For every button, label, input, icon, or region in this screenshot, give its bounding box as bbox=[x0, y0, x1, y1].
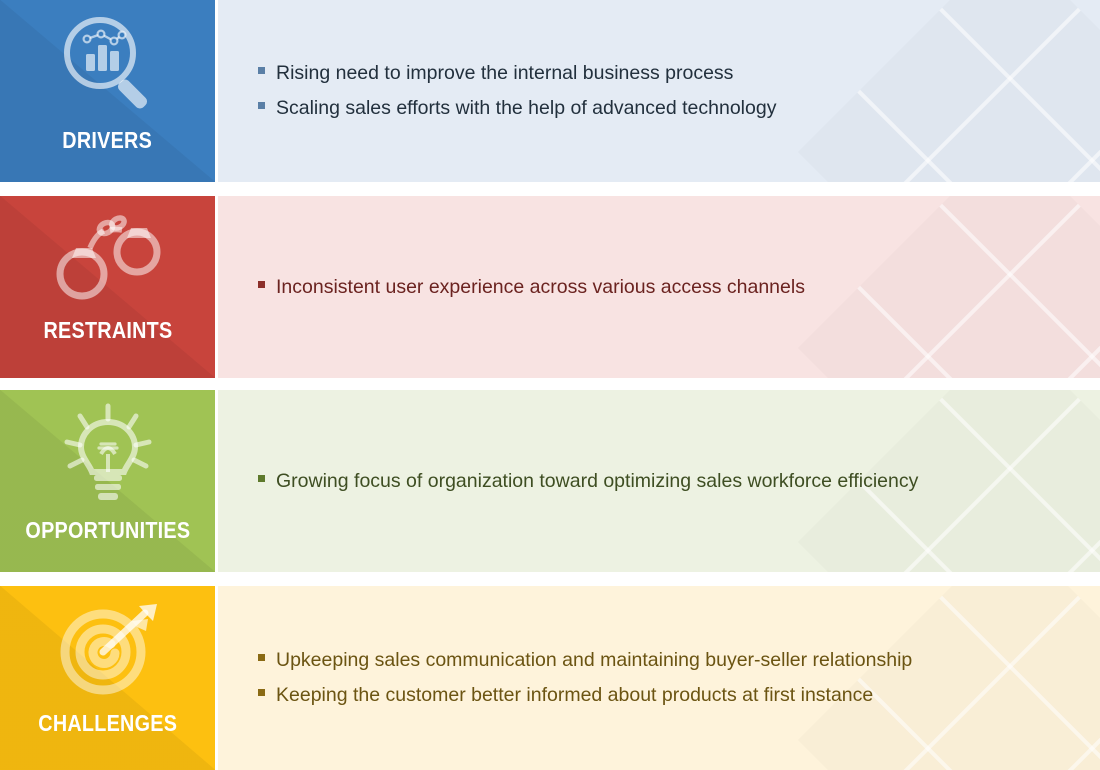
bullet-text: Inconsistent user experience across vari… bbox=[276, 270, 805, 305]
list-item: Keeping the customer better informed abo… bbox=[258, 678, 1100, 713]
bullet-text: Keeping the customer better informed abo… bbox=[276, 678, 873, 713]
bullet-list-challenges: Upkeeping sales communication and mainta… bbox=[218, 643, 1100, 712]
category-label-opportunities: OPPORTUNITIES bbox=[25, 519, 190, 542]
list-item: Upkeeping sales communication and mainta… bbox=[258, 643, 1100, 678]
magnifier-bar-chart-icon bbox=[0, 0, 215, 129]
diagram-row-restraints: RESTRAINTS Inconsistent user experience … bbox=[0, 196, 1100, 378]
list-item: Growing focus of organization toward opt… bbox=[258, 464, 1100, 499]
list-item: Rising need to improve the internal busi… bbox=[258, 56, 1100, 91]
bullet-marker-icon bbox=[258, 281, 265, 288]
target-arrow-icon bbox=[0, 586, 215, 712]
category-tile-opportunities[interactable]: OPPORTUNITIES bbox=[0, 390, 215, 572]
bullet-marker-icon bbox=[258, 654, 265, 661]
bullet-text: Rising need to improve the internal busi… bbox=[276, 56, 733, 91]
bullet-marker-icon bbox=[258, 689, 265, 696]
list-item: Scaling sales efforts with the help of a… bbox=[258, 91, 1100, 126]
lightbulb-idea-icon bbox=[0, 390, 215, 519]
bullet-text: Scaling sales efforts with the help of a… bbox=[276, 91, 776, 126]
market-dynamics-diagram: DRIVERS Rising need to improve the inter… bbox=[0, 0, 1100, 770]
content-panel-opportunities: Growing focus of organization toward opt… bbox=[218, 390, 1100, 572]
bullet-marker-icon bbox=[258, 102, 265, 109]
content-panel-drivers: Rising need to improve the internal busi… bbox=[218, 0, 1100, 182]
category-label-restraints: RESTRAINTS bbox=[43, 319, 172, 342]
diagram-row-drivers: DRIVERS Rising need to improve the inter… bbox=[0, 0, 1100, 182]
category-label-challenges: CHALLENGES bbox=[38, 712, 177, 735]
category-tile-drivers[interactable]: DRIVERS bbox=[0, 0, 215, 182]
bullet-list-drivers: Rising need to improve the internal busi… bbox=[218, 56, 1100, 125]
bullet-list-restraints: Inconsistent user experience across vari… bbox=[218, 270, 1100, 305]
handcuffs-icon bbox=[0, 196, 215, 319]
bullet-marker-icon bbox=[258, 475, 265, 482]
content-panel-restraints: Inconsistent user experience across vari… bbox=[218, 196, 1100, 378]
bullet-text: Upkeeping sales communication and mainta… bbox=[276, 643, 912, 678]
bullet-text: Growing focus of organization toward opt… bbox=[276, 464, 918, 499]
bullet-marker-icon bbox=[258, 67, 265, 74]
category-tile-challenges[interactable]: CHALLENGES bbox=[0, 586, 215, 770]
content-panel-challenges: Upkeeping sales communication and mainta… bbox=[218, 586, 1100, 770]
list-item: Inconsistent user experience across vari… bbox=[258, 270, 1100, 305]
diagram-row-opportunities: OPPORTUNITIES Growing focus of organizat… bbox=[0, 390, 1100, 572]
diagram-row-challenges: CHALLENGES Upkeeping sales communication… bbox=[0, 586, 1100, 770]
category-label-drivers: DRIVERS bbox=[63, 129, 153, 152]
category-tile-restraints[interactable]: RESTRAINTS bbox=[0, 196, 215, 378]
bullet-list-opportunities: Growing focus of organization toward opt… bbox=[218, 464, 1100, 499]
